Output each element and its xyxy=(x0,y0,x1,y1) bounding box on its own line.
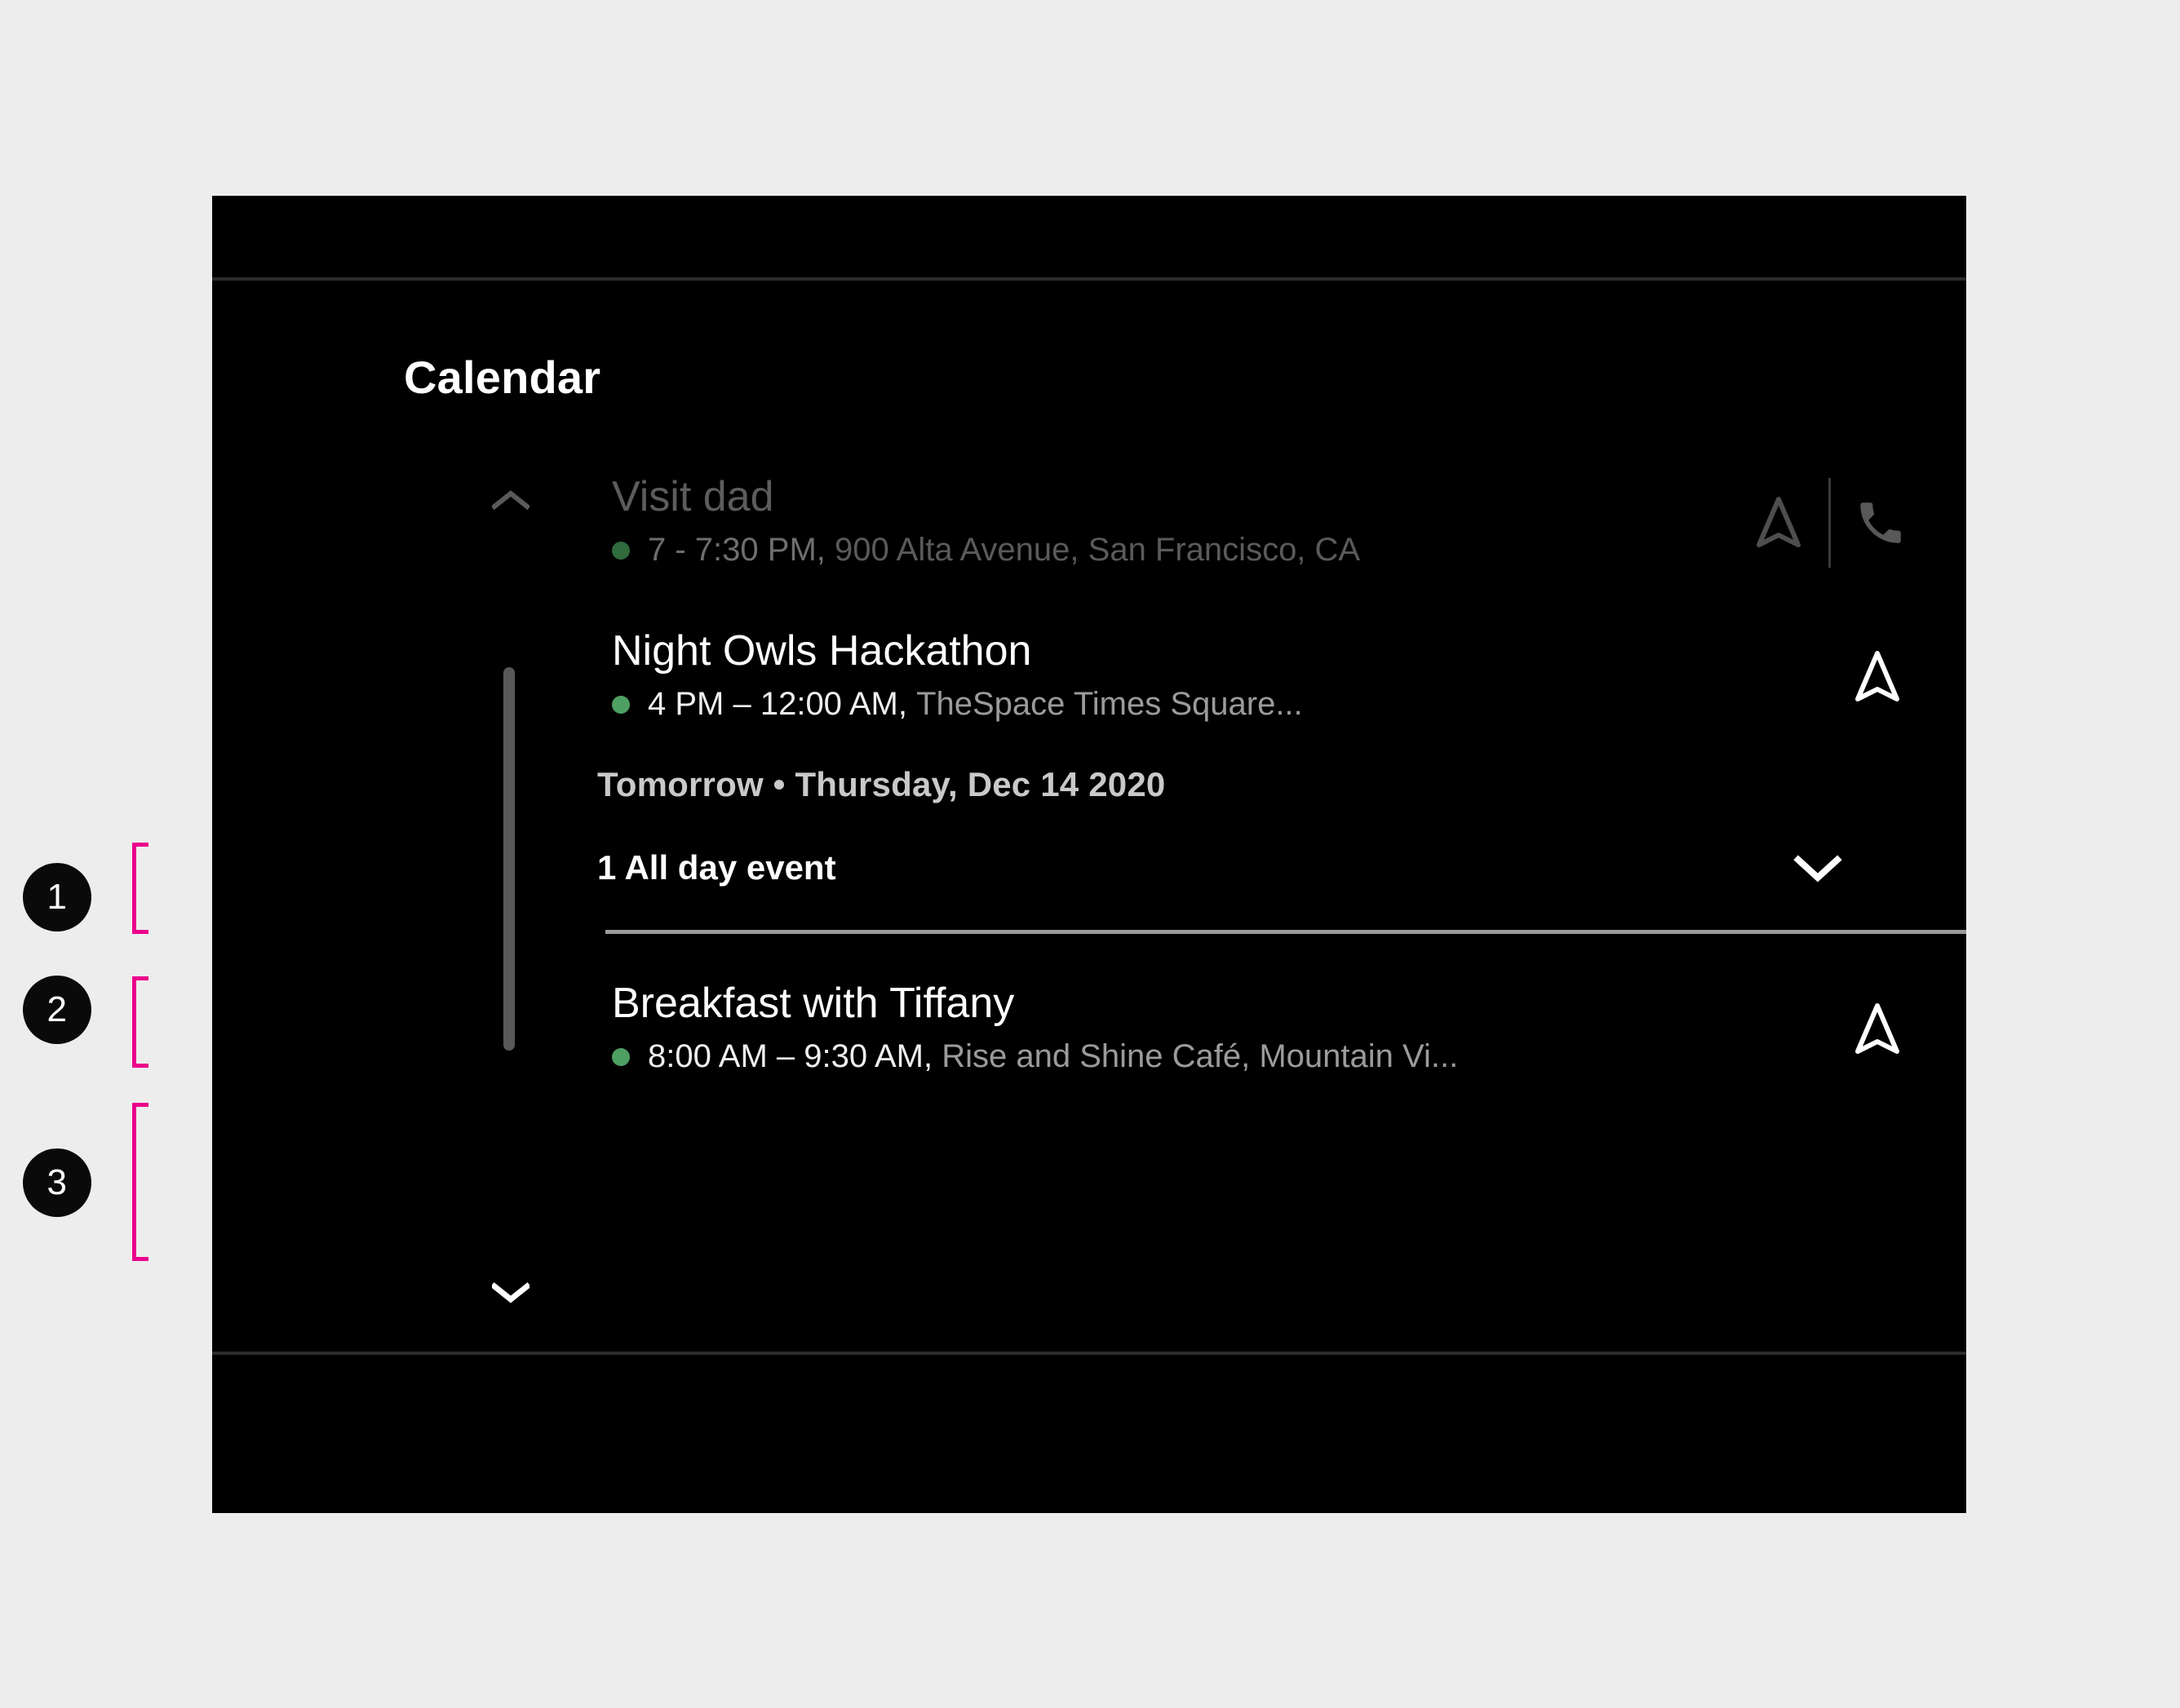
annotation-badge-2-label: 2 xyxy=(47,992,68,1028)
event-row-night-owls-hackathon[interactable]: Night Owls Hackathon 4 PM – 12:00 AM, Th… xyxy=(612,627,1925,723)
event-location: 900 Alta Avenue, San Francisco, CA xyxy=(835,532,1360,569)
event-time: 8:00 AM – 9:30 AM, xyxy=(648,1038,933,1075)
event-location: Rise and Shine Café, Mountain Vi... xyxy=(942,1038,1458,1075)
navigate-icon xyxy=(1850,1001,1904,1058)
screen-top-bar xyxy=(212,196,1966,281)
all-day-event-label: 1 All day event xyxy=(597,848,836,887)
scrollbar-thumb[interactable] xyxy=(503,667,515,1051)
scroll-rail[interactable] xyxy=(477,457,543,1354)
event-color-dot xyxy=(612,542,630,560)
event-actions xyxy=(1832,632,1925,722)
day-header: Tomorrow • Thursday, Dec 14 2020 xyxy=(597,765,1925,804)
annotation-bracket-3 xyxy=(132,1103,148,1261)
annotation-badge-3-label: 3 xyxy=(47,1165,68,1201)
navigate-button[interactable] xyxy=(1734,478,1823,568)
annotation-bracket-1 xyxy=(132,843,148,934)
event-title: Visit dad xyxy=(612,473,1714,520)
event-subtitle: 8:00 AM – 9:30 AM, Rise and Shine Café, … xyxy=(612,1038,1813,1075)
event-time: 4 PM – 12:00 AM, xyxy=(648,686,907,723)
event-color-dot xyxy=(612,1048,630,1066)
all-day-event-row[interactable]: 1 All day event xyxy=(597,848,1925,887)
navigate-icon xyxy=(1752,494,1806,551)
annotation-badge-1: 1 xyxy=(23,863,91,931)
annotation-badge-1-label: 1 xyxy=(47,879,68,915)
chevron-down-icon[interactable] xyxy=(1792,852,1844,884)
event-time: 7 - 7:30 PM, xyxy=(648,532,826,569)
chevron-up-icon[interactable] xyxy=(492,489,529,511)
annotation-callouts: 1 2 3 xyxy=(0,0,212,1708)
annotation-badge-3: 3 xyxy=(23,1148,91,1217)
call-button[interactable] xyxy=(1836,478,1925,568)
event-content: Breakfast with Tiffany 8:00 AM – 9:30 AM… xyxy=(612,980,1813,1075)
event-actions xyxy=(1832,985,1925,1074)
event-location: TheSpace Times Square... xyxy=(916,686,1303,723)
screen-bottom-bar xyxy=(212,1352,1966,1513)
navigate-icon xyxy=(1850,648,1904,706)
annotation-badge-2: 2 xyxy=(23,976,91,1044)
event-content: Visit dad 7 - 7:30 PM, 900 Alta Avenue, … xyxy=(612,473,1714,569)
navigate-button[interactable] xyxy=(1832,985,1922,1074)
chevron-down-icon[interactable] xyxy=(492,1282,529,1303)
event-content: Night Owls Hackathon 4 PM – 12:00 AM, Th… xyxy=(612,627,1813,723)
event-row-breakfast-with-tiffany[interactable]: Breakfast with Tiffany 8:00 AM – 9:30 AM… xyxy=(612,980,1925,1075)
event-row-visit-dad[interactable]: Visit dad 7 - 7:30 PM, 900 Alta Avenue, … xyxy=(612,473,1925,569)
event-subtitle: 4 PM – 12:00 AM, TheSpace Times Square..… xyxy=(612,686,1813,723)
action-divider xyxy=(1828,478,1831,568)
page-title: Calendar xyxy=(404,351,600,404)
event-actions xyxy=(1734,478,1925,568)
event-color-dot xyxy=(612,696,630,714)
annotation-bracket-2 xyxy=(132,976,148,1068)
call-icon xyxy=(1854,496,1907,550)
calendar-screen-panel: Calendar Visit dad 7 - 7:30 PM, 90 xyxy=(212,196,1966,1513)
navigate-button[interactable] xyxy=(1832,632,1922,722)
event-title: Breakfast with Tiffany xyxy=(612,980,1813,1027)
event-list: Visit dad 7 - 7:30 PM, 900 Alta Avenue, … xyxy=(612,473,1925,1075)
event-title: Night Owls Hackathon xyxy=(612,627,1813,675)
event-subtitle: 7 - 7:30 PM, 900 Alta Avenue, San Franci… xyxy=(612,532,1714,569)
